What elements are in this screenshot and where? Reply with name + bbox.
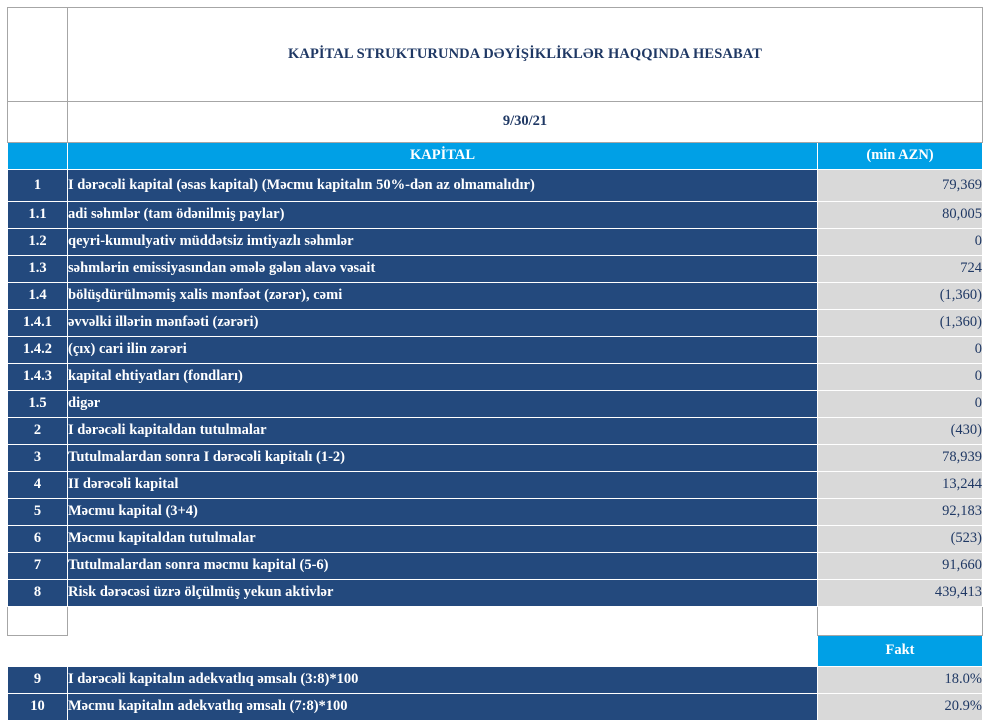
row-value: (430) xyxy=(818,418,983,445)
row-value: 79,369 xyxy=(818,170,983,202)
ratio-header-label-spacer xyxy=(68,636,818,667)
row-value: 13,244 xyxy=(818,472,983,499)
row-value: 80,005 xyxy=(818,202,983,229)
row-number: 1.1 xyxy=(8,202,68,229)
row-label: (çıx) cari ilin zərəri xyxy=(68,337,818,364)
row-label: I dərəcəli kapital (əsas kapital) (Məcmu… xyxy=(68,170,818,202)
row-number: 1 xyxy=(8,170,68,202)
row-number: 8 xyxy=(8,580,68,607)
table-row: 1.3 səhmlərin emissiyasından əmələ gələn… xyxy=(8,256,983,283)
row-label: Məcmu kapital (3+4) xyxy=(68,499,818,526)
row-label: I dərəcəli kapitalın adekvatlıq əmsalı (… xyxy=(68,667,818,694)
capital-structure-table: KAPİTAL STRUKTURUNDA DƏYİŞİKLİKLƏR HAQQI… xyxy=(7,7,983,721)
spacer-label-cell xyxy=(68,607,818,636)
row-label: səhmlərin emissiyasından əmələ gələn əla… xyxy=(68,256,818,283)
row-value: 724 xyxy=(818,256,983,283)
header-value-column: (min AZN) xyxy=(818,143,983,170)
row-number: 7 xyxy=(8,553,68,580)
table-row: 7 Tutulmalardan sonra məcmu kapital (5-6… xyxy=(8,553,983,580)
row-label: əvvəlki illərin mənfəəti (zərəri) xyxy=(68,310,818,337)
row-label: bölüşdürülməmiş xalis mənfəət (zərər), c… xyxy=(68,283,818,310)
row-value: 91,660 xyxy=(818,553,983,580)
table-row: 10 Məcmu kapitalın adekvatlıq əmsalı (7:… xyxy=(8,694,983,721)
row-value: (1,360) xyxy=(818,283,983,310)
row-number: 1.4.3 xyxy=(8,364,68,391)
row-number: 3 xyxy=(8,445,68,472)
ratio-header-row: Fakt xyxy=(8,636,983,667)
row-value: 0 xyxy=(818,391,983,418)
table-row: 1.4 bölüşdürülməmiş xalis mənfəət (zərər… xyxy=(8,283,983,310)
row-value: 0 xyxy=(818,229,983,256)
row-number: 6 xyxy=(8,526,68,553)
table-row: 1.4.3 kapital ehtiyatları (fondları) 0 xyxy=(8,364,983,391)
row-value: 78,939 xyxy=(818,445,983,472)
date-left-spacer xyxy=(8,102,68,143)
row-number: 9 xyxy=(8,667,68,694)
row-value: 18.0% xyxy=(818,667,983,694)
row-number: 2 xyxy=(8,418,68,445)
date-row: 9/30/21 xyxy=(8,102,983,143)
table-row: 8 Risk dərəcəsi üzrə ölçülmüş yekun akti… xyxy=(8,580,983,607)
table-row: 1.2 qeyri-kumulyativ müddətsiz imtiyazlı… xyxy=(8,229,983,256)
row-label: Tutulmalardan sonra I dərəcəli kapitalı … xyxy=(68,445,818,472)
table-row: 1.4.2 (çıx) cari ilin zərəri 0 xyxy=(8,337,983,364)
row-label: kapital ehtiyatları (fondları) xyxy=(68,364,818,391)
row-label: adi səhmlər (tam ödənilmiş paylar) xyxy=(68,202,818,229)
row-value: 439,413 xyxy=(818,580,983,607)
row-value: 0 xyxy=(818,337,983,364)
spacer-row-1 xyxy=(8,607,983,636)
row-label: qeyri-kumulyativ müddətsiz imtiyazlı səh… xyxy=(68,229,818,256)
row-value: (523) xyxy=(818,526,983,553)
title-left-spacer xyxy=(8,8,68,102)
title-row: KAPİTAL STRUKTURUNDA DƏYİŞİKLİKLƏR HAQQI… xyxy=(8,8,983,102)
row-value: (1,360) xyxy=(818,310,983,337)
table-row: 1 I dərəcəli kapital (əsas kapital) (Məc… xyxy=(8,170,983,202)
column-header-row: KAPİTAL (min AZN) xyxy=(8,143,983,170)
row-label: Tutulmalardan sonra məcmu kapital (5-6) xyxy=(68,553,818,580)
row-value: 0 xyxy=(818,364,983,391)
table-row: 4 II dərəcəli kapital 13,244 xyxy=(8,472,983,499)
row-number: 4 xyxy=(8,472,68,499)
spacer-number-cell xyxy=(8,607,68,636)
row-number: 5 xyxy=(8,499,68,526)
page-title: KAPİTAL STRUKTURUNDA DƏYİŞİKLİKLƏR HAQQI… xyxy=(68,8,983,102)
table-row: 1.5 digər 0 xyxy=(8,391,983,418)
row-label: Risk dərəcəsi üzrə ölçülmüş yekun aktivl… xyxy=(68,580,818,607)
row-label: digər xyxy=(68,391,818,418)
header-capital-column: KAPİTAL xyxy=(68,143,818,170)
table-row: 3 Tutulmalardan sonra I dərəcəli kapital… xyxy=(8,445,983,472)
table-row: 9 I dərəcəli kapitalın adekvatlıq əmsalı… xyxy=(8,667,983,694)
table-row: 6 Məcmu kapitaldan tutulmalar (523) xyxy=(8,526,983,553)
row-number: 1.4 xyxy=(8,283,68,310)
ratio-header-fakt: Fakt xyxy=(818,636,983,667)
table-row: 5 Məcmu kapital (3+4) 92,183 xyxy=(8,499,983,526)
row-label: II dərəcəli kapital xyxy=(68,472,818,499)
row-label: Məcmu kapitaldan tutulmalar xyxy=(68,526,818,553)
row-number: 1.3 xyxy=(8,256,68,283)
row-value: 92,183 xyxy=(818,499,983,526)
row-number: 1.2 xyxy=(8,229,68,256)
header-number-column xyxy=(8,143,68,170)
table-row: 2 I dərəcəli kapitaldan tutulmalar (430) xyxy=(8,418,983,445)
row-number: 1.5 xyxy=(8,391,68,418)
table-row: 1.4.1 əvvəlki illərin mənfəəti (zərəri) … xyxy=(8,310,983,337)
table-row: 1.1 adi səhmlər (tam ödənilmiş paylar) 8… xyxy=(8,202,983,229)
report-date: 9/30/21 xyxy=(68,102,983,143)
row-value: 20.9% xyxy=(818,694,983,721)
spacer-value-cell xyxy=(818,607,983,636)
row-number: 1.4.2 xyxy=(8,337,68,364)
row-number: 1.4.1 xyxy=(8,310,68,337)
table-body: KAPİTAL STRUKTURUNDA DƏYİŞİKLİKLƏR HAQQI… xyxy=(8,8,983,721)
row-label: Məcmu kapitalın adekvatlıq əmsalı (7:8)*… xyxy=(68,694,818,721)
row-label: I dərəcəli kapitaldan tutulmalar xyxy=(68,418,818,445)
row-number: 10 xyxy=(8,694,68,721)
ratio-header-number-spacer xyxy=(8,636,68,667)
report-sheet: KAPİTAL STRUKTURUNDA DƏYİŞİKLİKLƏR HAQQI… xyxy=(0,0,1000,719)
